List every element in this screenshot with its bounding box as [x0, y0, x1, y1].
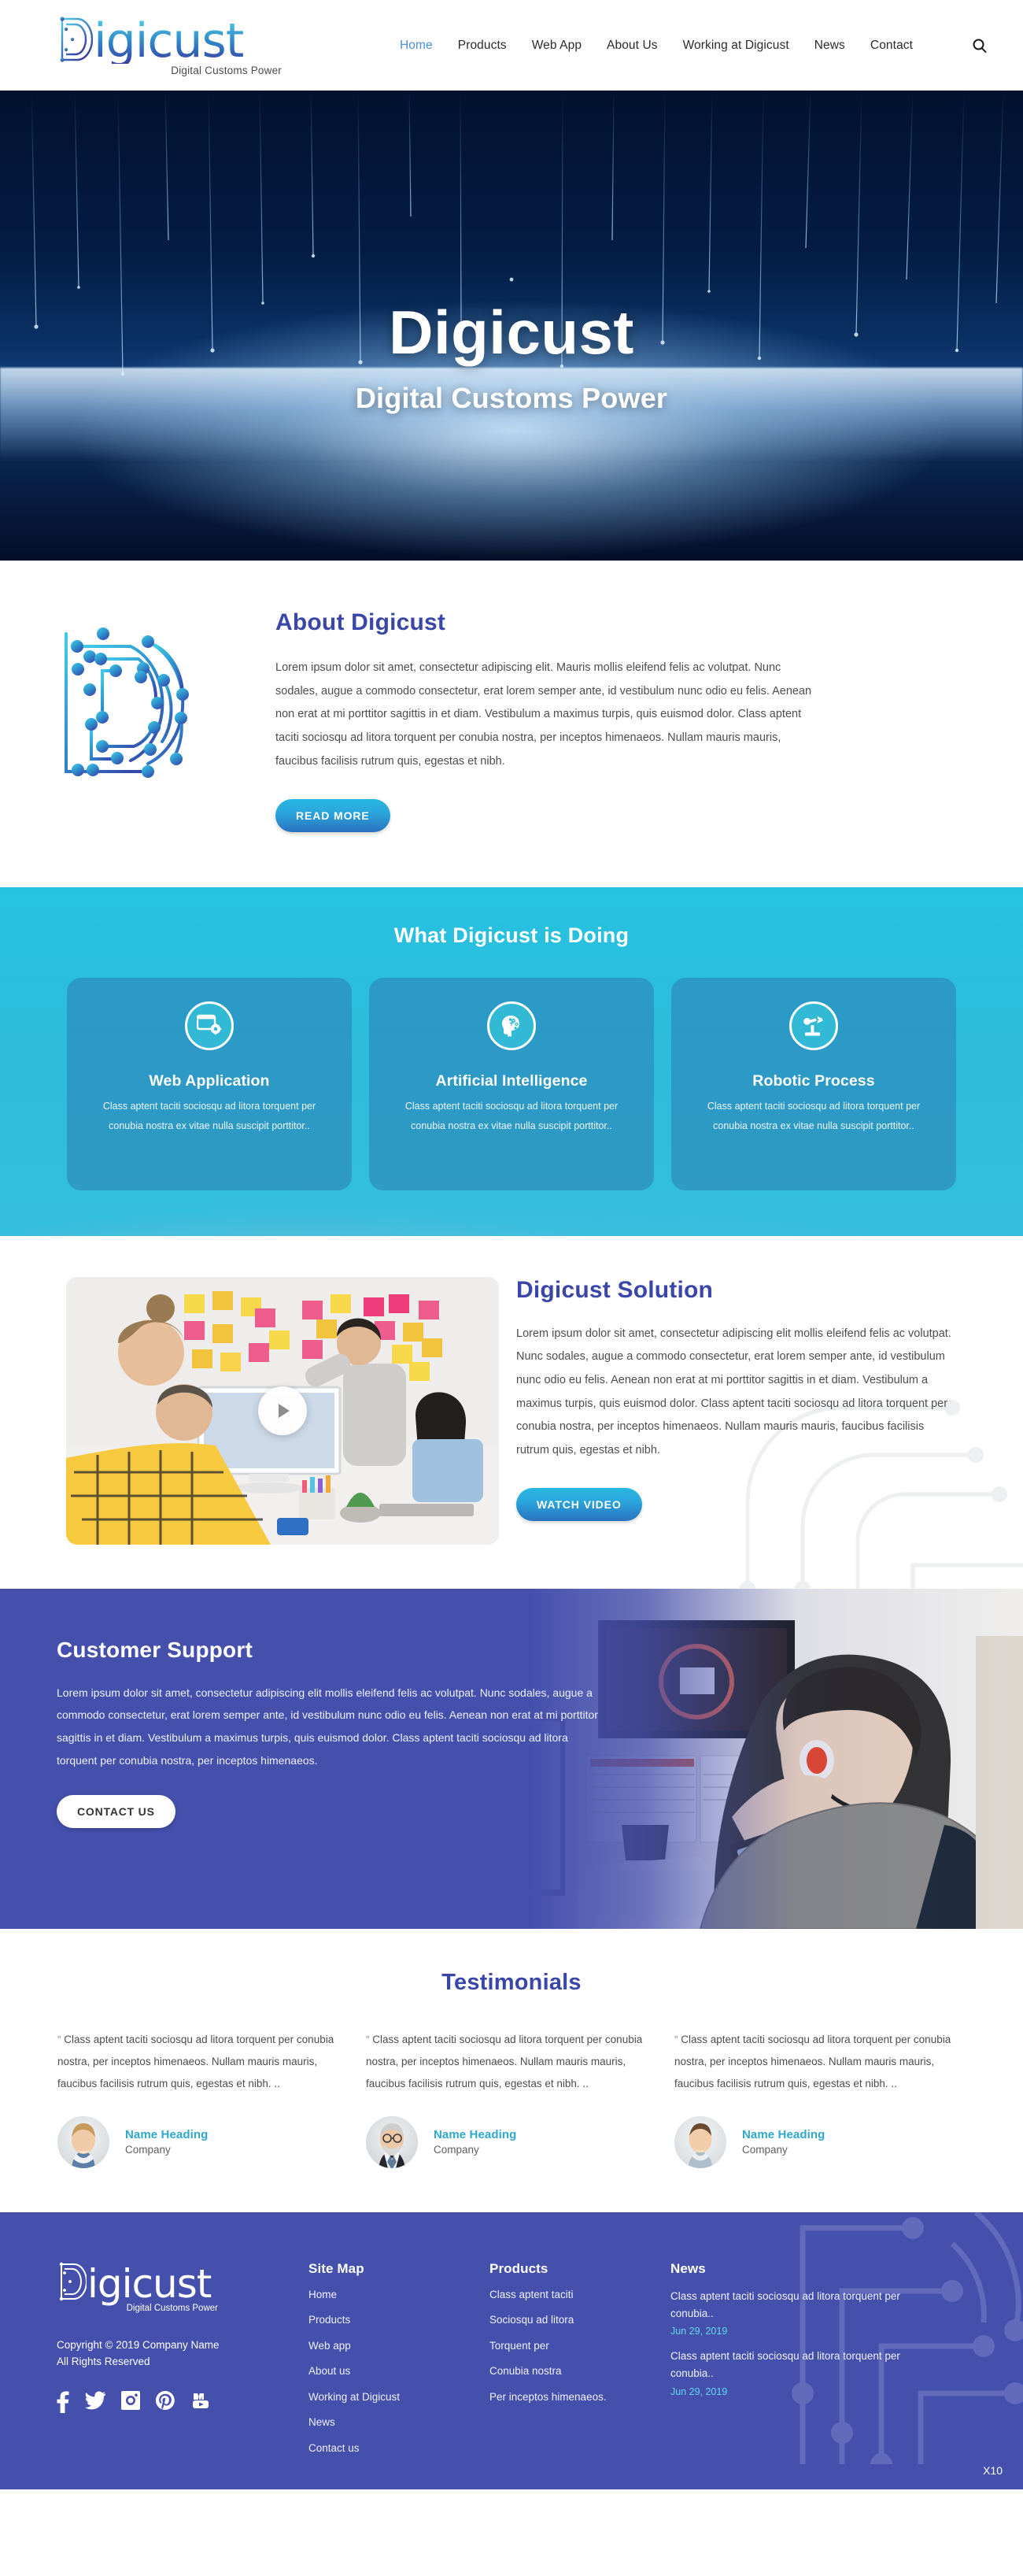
instagram-icon[interactable] — [121, 2391, 140, 2417]
browser-gear-icon — [185, 1001, 234, 1050]
search-icon[interactable] — [969, 35, 990, 56]
robot-arm-icon — [789, 1001, 838, 1050]
service-card-title: Robotic Process — [752, 1072, 874, 1090]
testimonial-name: Name Heading — [125, 2128, 208, 2141]
nav-item-home[interactable]: Home — [387, 39, 445, 53]
footer-product-link[interactable]: Class aptent taciti — [489, 2287, 670, 2303]
service-card-text: Class aptent taciti sociosqu ad litora t… — [391, 1097, 632, 1136]
circuit-d-icon — [57, 15, 93, 64]
services-heading: What Digicust is Doing — [0, 923, 1023, 948]
testimonial-card: “ Class aptent taciti sociosqu ad litora… — [57, 2029, 349, 2168]
nav-item-news[interactable]: News — [802, 39, 858, 53]
solution-video-thumbnail[interactable] — [66, 1277, 499, 1545]
footer-product-link[interactable]: Conubia nostra — [489, 2363, 670, 2379]
footer-product-link[interactable]: Sociosqu ad litora — [489, 2312, 670, 2328]
about-heading: About Digicust — [275, 609, 889, 636]
footer-news-item[interactable]: Class aptent taciti sociosqu ad litora t… — [670, 2288, 907, 2337]
footer-news-date: Jun 29, 2019 — [670, 2386, 907, 2397]
service-card-artificial-intelligence[interactable]: Artificial Intelligence Class aptent tac… — [369, 978, 654, 1190]
footer-link-products[interactable]: Products — [308, 2312, 489, 2328]
landing-page: igicust Digital Customs Power Home Produ… — [0, 0, 1023, 2489]
avatar — [366, 2116, 418, 2168]
testimonial-company: Company — [434, 2144, 516, 2156]
pinterest-icon[interactable] — [156, 2391, 175, 2417]
hero-banner: Digicust Digital Customs Power — [0, 91, 1023, 561]
footer-column-heading: Site Map — [308, 2261, 489, 2277]
footer-link-about-us[interactable]: About us — [308, 2363, 489, 2379]
logo-tagline: Digital Customs Power — [171, 65, 282, 76]
nav-item-products[interactable]: Products — [445, 39, 519, 53]
logo-mark: igicust — [57, 15, 243, 64]
testimonial-card: “ Class aptent taciti sociosqu ad litora… — [366, 2029, 657, 2168]
testimonial-company: Company — [742, 2144, 825, 2156]
footer-link-news[interactable]: News — [308, 2415, 489, 2430]
twitter-icon[interactable] — [85, 2391, 105, 2417]
nav-item-working-at-digicust[interactable]: Working at Digicust — [670, 39, 802, 53]
testimonial-text: Class aptent taciti sociosqu ad litora t… — [674, 2034, 951, 2090]
service-card-text: Class aptent taciti sociosqu ad litora t… — [89, 1097, 330, 1136]
hero-subtitle: Digital Customs Power — [356, 382, 667, 415]
play-icon[interactable] — [258, 1386, 307, 1435]
service-card-web-application[interactable]: Web Application Class aptent taciti soci… — [67, 978, 352, 1190]
footer-watermark: X10 — [983, 2464, 1003, 2477]
site-logo[interactable]: igicust Digital Customs Power — [57, 15, 285, 76]
solution-heading: Digicust Solution — [516, 1277, 971, 1304]
footer-logo[interactable]: igicust — [57, 2261, 308, 2302]
copyright-line-1: Copyright © 2019 Company Name — [57, 2337, 308, 2354]
about-paragraph: Lorem ipsum dolor sit amet, consectetur … — [275, 657, 818, 774]
footer-products-column: Products Class aptent taciti Sociosqu ad… — [489, 2261, 670, 2456]
support-heading: Customer Support — [57, 1638, 1023, 1663]
avatar — [57, 2116, 109, 2168]
footer-link-web-app[interactable]: Web app — [308, 2338, 489, 2354]
testimonial-quote: “ Class aptent taciti sociosqu ad litora… — [57, 2029, 349, 2096]
footer-column-heading: Products — [489, 2261, 670, 2277]
footer-news-column: News Class aptent taciti sociosqu ad lit… — [670, 2261, 907, 2456]
testimonials-section: Testimonials “ Class aptent taciti socio… — [0, 1929, 1023, 2212]
ai-head-icon — [487, 1001, 536, 1050]
testimonial-text: Class aptent taciti sociosqu ad litora t… — [57, 2034, 334, 2090]
testimonial-quote: “ Class aptent taciti sociosqu ad litora… — [366, 2029, 657, 2096]
hero-title: Digicust — [389, 302, 634, 363]
youtube-icon[interactable] — [190, 2391, 211, 2417]
testimonial-name: Name Heading — [742, 2128, 825, 2141]
footer-news-date: Jun 29, 2019 — [670, 2326, 907, 2337]
contact-us-button[interactable]: CONTACT US — [57, 1795, 175, 1828]
testimonial-company: Company — [125, 2144, 208, 2156]
logo-wordmark: igicust — [94, 20, 243, 63]
footer-product-link[interactable]: Per inceptos himenaeos. — [489, 2389, 670, 2405]
nav-item-contact[interactable]: Contact — [858, 39, 925, 53]
testimonial-name: Name Heading — [434, 2128, 516, 2141]
service-cards: Web Application Class aptent taciti soci… — [0, 978, 1023, 1190]
testimonial-card: “ Class aptent taciti sociosqu ad litora… — [674, 2029, 966, 2168]
footer-brand: igicust Digital Customs Power Copyright … — [57, 2261, 308, 2456]
service-card-title: Web Application — [149, 1072, 269, 1090]
footer-column-heading: News — [670, 2261, 907, 2277]
footer-wordmark: igicust — [87, 2266, 211, 2302]
service-card-title: Artificial Intelligence — [435, 1072, 587, 1090]
quote-mark-icon: “ — [366, 2034, 370, 2045]
solution-paragraph: Lorem ipsum dolor sit amet, consectetur … — [516, 1323, 957, 1463]
watch-video-button[interactable]: WATCH VIDEO — [516, 1488, 642, 1521]
service-card-text: Class aptent taciti sociosqu ad litora t… — [693, 1097, 934, 1136]
circuit-d-icon — [57, 2261, 87, 2302]
avatar — [674, 2116, 726, 2168]
customer-support-section: Customer Support Lorem ipsum dolor sit a… — [0, 1589, 1023, 1929]
footer-sitemap-column: Site Map Home Products Web app About us … — [308, 2261, 489, 2456]
testimonials-heading: Testimonials — [0, 1970, 1023, 1996]
testimonial-quote: “ Class aptent taciti sociosqu ad litora… — [674, 2029, 966, 2096]
read-more-button[interactable]: READ MORE — [275, 799, 390, 832]
quote-mark-icon: “ — [57, 2034, 61, 2045]
footer-news-title: Class aptent taciti sociosqu ad litora t… — [670, 2288, 907, 2323]
nav-item-about-us[interactable]: About Us — [594, 39, 670, 53]
social-links — [57, 2391, 308, 2417]
about-section: About Digicust Lorem ipsum dolor sit ame… — [0, 561, 1023, 887]
testimonial-text: Class aptent taciti sociosqu ad litora t… — [366, 2034, 642, 2090]
footer-link-working-at-digicust[interactable]: Working at Digicust — [308, 2389, 489, 2405]
quote-mark-icon: “ — [674, 2034, 678, 2045]
solution-section: Digicust Solution Lorem ipsum dolor sit … — [0, 1236, 1023, 1589]
about-logo-graphic — [0, 609, 260, 832]
footer-link-home[interactable]: Home — [308, 2287, 489, 2303]
service-card-robotic-process[interactable]: Robotic Process Class aptent taciti soci… — [671, 978, 956, 1190]
footer-product-link[interactable]: Torquent per — [489, 2338, 670, 2354]
main-nav: Home Products Web App About Us Working a… — [387, 39, 925, 53]
site-header: igicust Digital Customs Power Home Produ… — [0, 0, 1023, 91]
footer-tagline: Digital Customs Power — [57, 2304, 218, 2313]
support-paragraph: Lorem ipsum dolor sit amet, consectetur … — [57, 1682, 608, 1772]
footer-news-item[interactable]: Class aptent taciti sociosqu ad litora t… — [670, 2348, 907, 2397]
site-footer: igicust Digital Customs Power Copyright … — [0, 2212, 1023, 2489]
nav-item-web-app[interactable]: Web App — [519, 39, 594, 53]
copyright-line-2: All Rights Reserved — [57, 2353, 308, 2371]
facebook-icon[interactable] — [57, 2391, 69, 2417]
footer-link-contact-us[interactable]: Contact us — [308, 2441, 489, 2456]
footer-news-title: Class aptent taciti sociosqu ad litora t… — [670, 2348, 907, 2383]
services-section: What Digicust is Doing — [0, 887, 1023, 1236]
circuit-d-large-icon — [46, 617, 215, 786]
